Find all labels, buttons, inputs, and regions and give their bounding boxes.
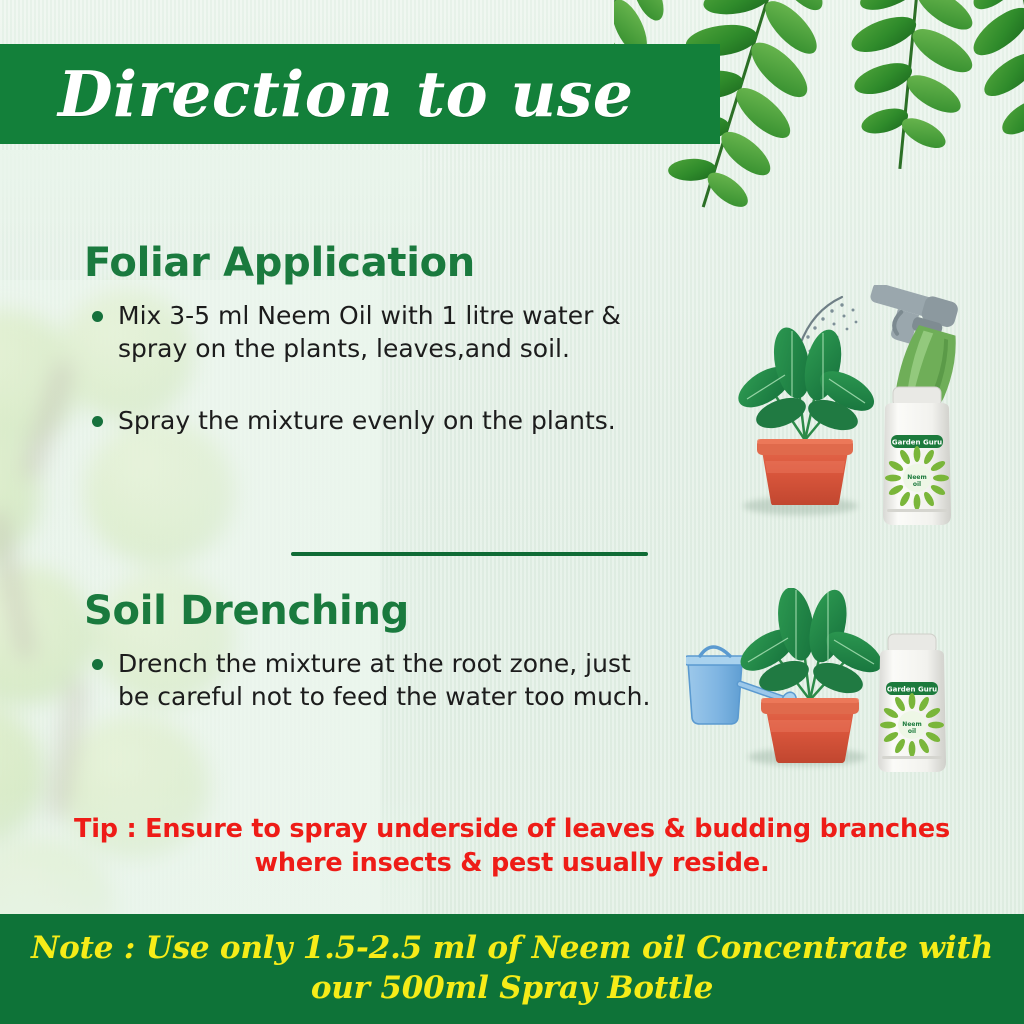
bottle-brand-text: Garden Guru	[887, 686, 937, 694]
bullet-list-foliar: Mix 3-5 ml Neem Oil with 1 litre water &…	[84, 300, 664, 438]
neem-oil-bottle-icon: Garden Guru	[858, 630, 966, 778]
list-item: Drench the mixture at the root zone, jus…	[84, 648, 664, 713]
bullet-list-drenching: Drench the mixture at the root zone, jus…	[84, 648, 664, 713]
note-text: Note : Use only 1.5-2.5 ml of Neem oil C…	[0, 929, 1024, 1008]
page-title-banner: Direction to use	[0, 44, 720, 144]
neem-oil-bottle-icon: Garden Guru	[863, 383, 971, 531]
potted-plant-icon	[735, 315, 875, 505]
section-foliar-application: Foliar Application Mix 3-5 ml Neem Oil w…	[84, 240, 664, 464]
section-heading-drenching: Soil Drenching	[84, 588, 664, 634]
list-item: Spray the mixture evenly on the plants.	[84, 405, 664, 438]
section-heading-foliar: Foliar Application	[84, 240, 664, 286]
list-item: Mix 3-5 ml Neem Oil with 1 litre water &…	[84, 300, 664, 365]
svg-text:oil: oil	[908, 728, 916, 735]
note-banner: Note : Use only 1.5-2.5 ml of Neem oil C…	[0, 914, 1024, 1024]
poster: Direction to use Foliar Application Mix …	[0, 0, 1024, 1024]
section-divider	[291, 552, 648, 556]
bottle-label-text: Neem	[907, 474, 926, 481]
svg-text:oil: oil	[913, 481, 921, 488]
illustration-drenching: Garden Guru	[686, 588, 986, 788]
bottle-brand-text: Garden Guru	[892, 439, 942, 447]
illustration-foliar: Garden Guru	[735, 285, 1024, 535]
tip-text: Tip : Ensure to spray underside of leave…	[0, 812, 1024, 881]
bottle-label-text: Neem	[902, 721, 921, 728]
page-title: Direction to use	[0, 63, 633, 126]
section-soil-drenching: Soil Drenching Drench the mixture at the…	[84, 588, 664, 739]
